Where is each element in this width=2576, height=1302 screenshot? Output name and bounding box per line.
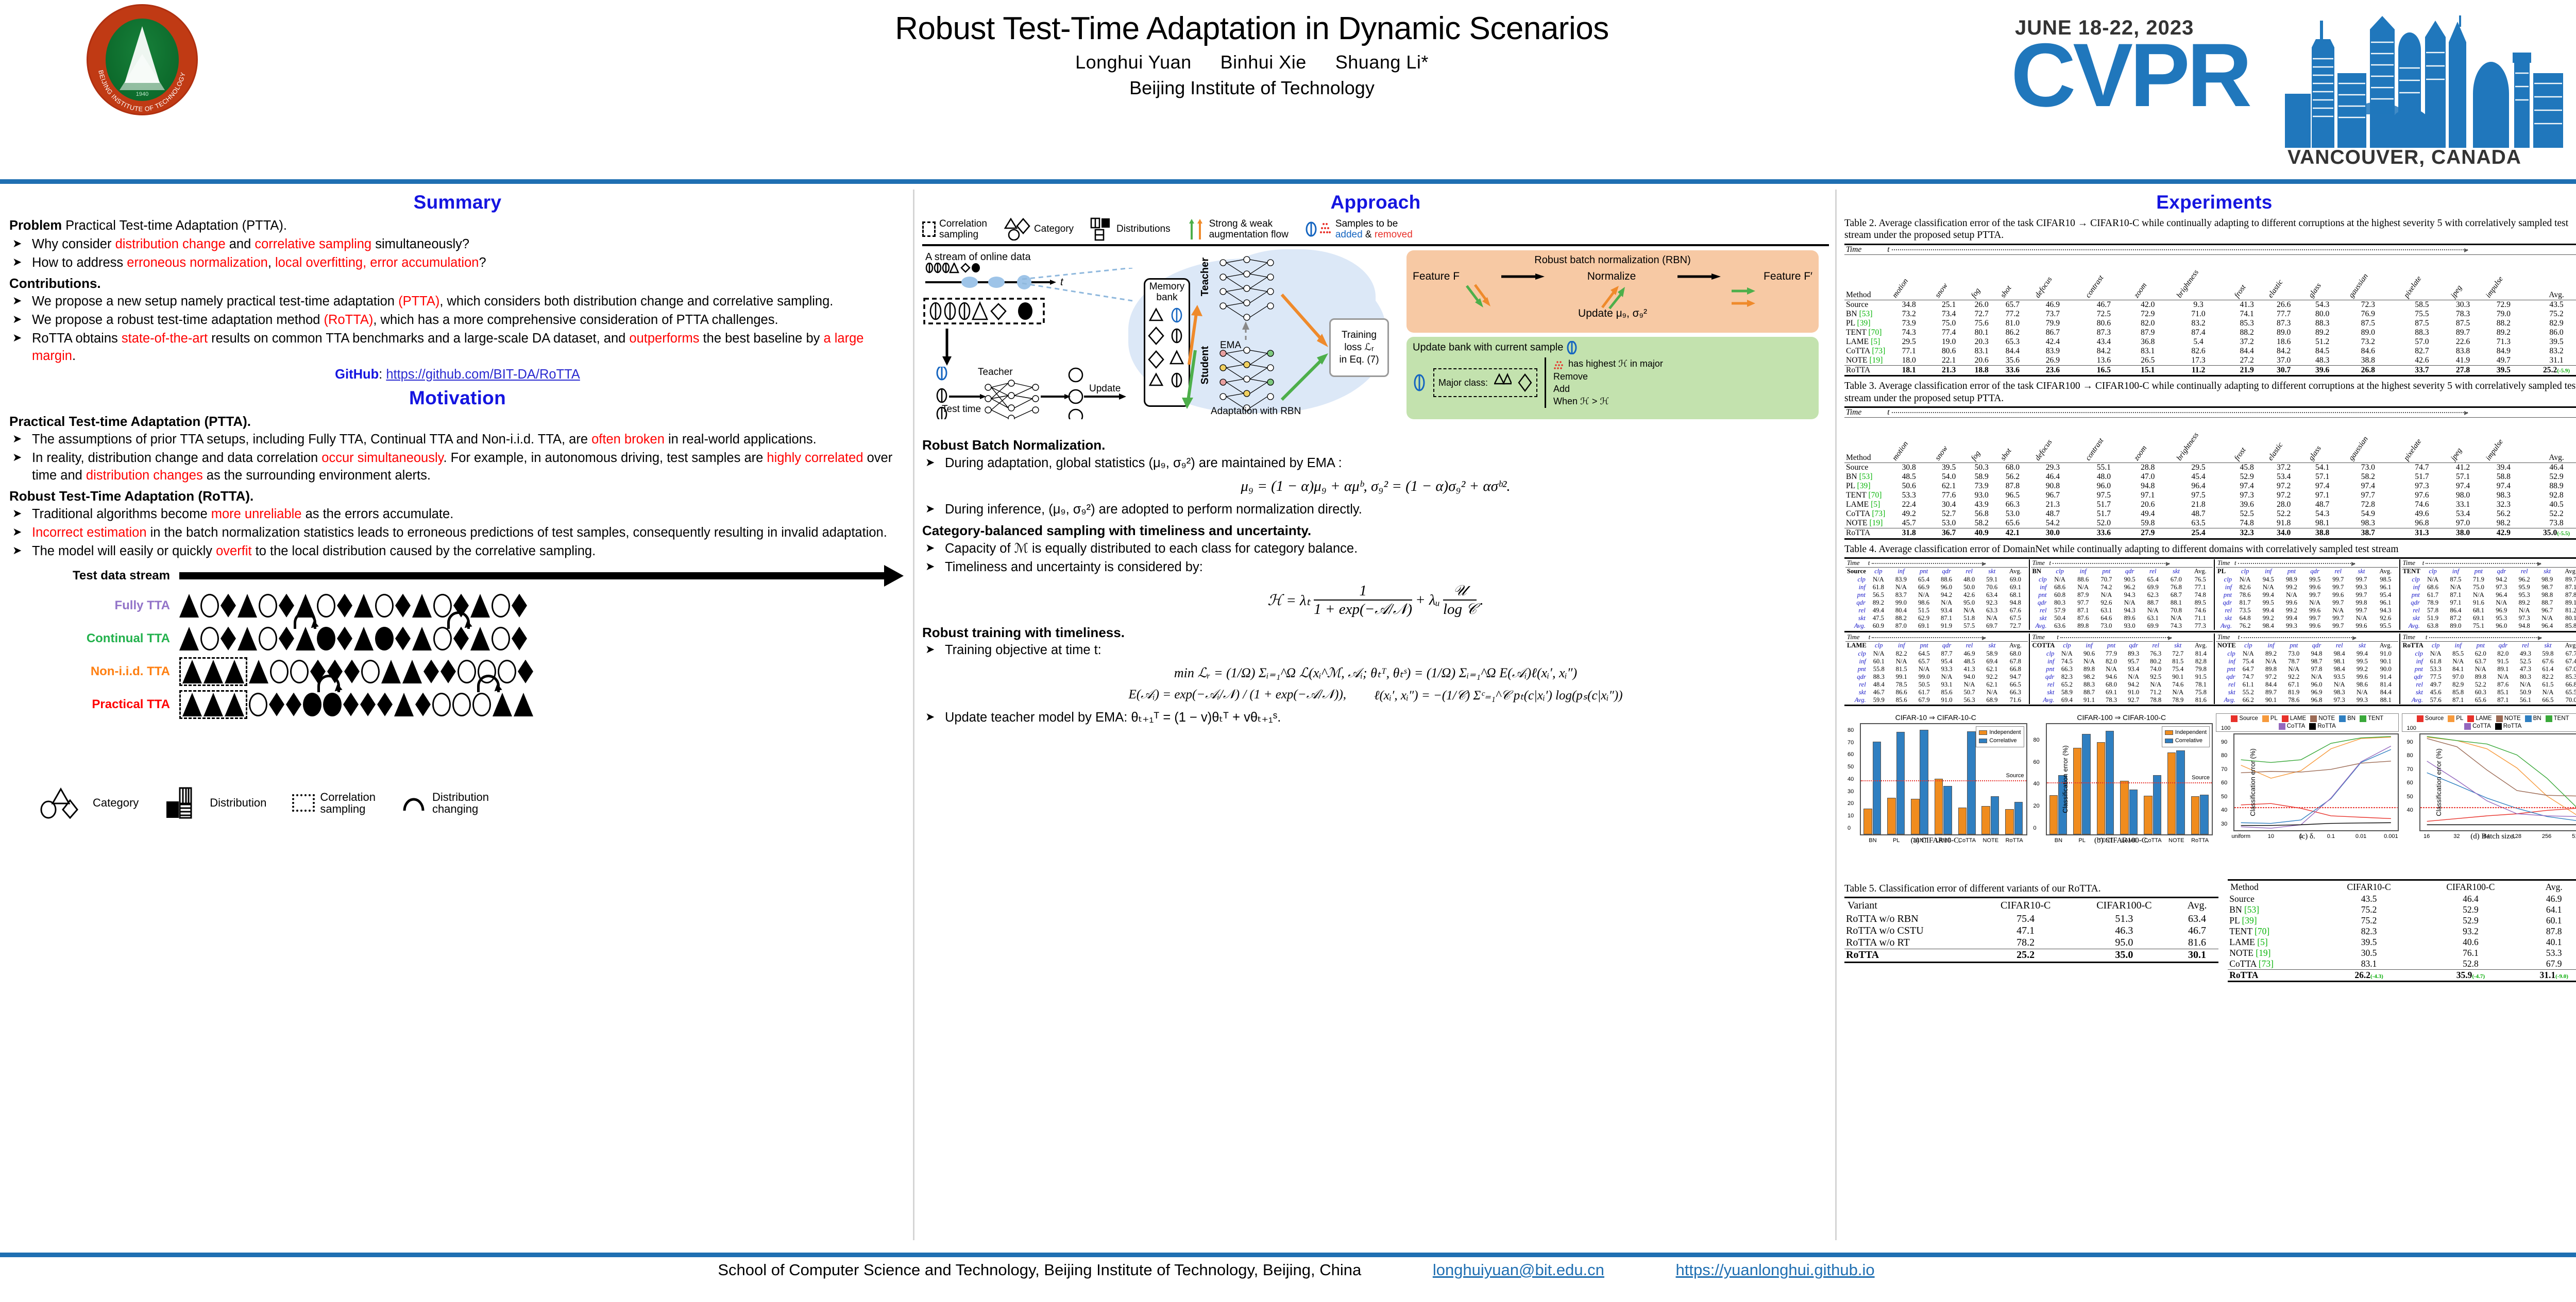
cell-avg: 91.4 [2374,673,2398,681]
teacher-label: Teacher [978,367,1013,378]
footer-email-link[interactable]: longhuiyuan@bit.edu.cn [1433,1261,1604,1279]
cell: 58.2 [2340,472,2396,482]
bar-Correlative-BN [1873,742,1881,834]
cell: 88.3 [2396,328,2447,337]
x-tick: 1 [2299,833,2302,840]
row-method: BN [53] [1844,472,1886,482]
cell: 99.8 [2350,599,2373,607]
cell: 76.1 [2417,948,2523,958]
green-remove: Remove [1553,370,1663,383]
augmentation-flow-icon [1187,218,1206,241]
cell-avg: 31.1(-9.0) [2523,969,2576,981]
rotta-point-2: Incorrect estimation in the batch normal… [9,524,906,542]
table-row: rel57.886.468.196.9N/A96.781.2 [2401,607,2576,614]
cell: N/A [2257,584,2280,591]
cell: 89.0 [2262,328,2305,337]
cell: 51.2 [2305,337,2340,347]
cell: 94.3 [2118,607,2141,614]
table-row: qdr89.299.098.6N/A95.092.394.8 [1845,599,2028,607]
y-tick: 70 [1848,740,1854,746]
series-NOTE [2427,739,2576,796]
cell: 80.3 [2048,599,2072,607]
cell: N/A [2490,599,2513,607]
table-row: CoTTA [73]83.152.867.9 [2228,958,2576,970]
cell: 87.1 [1935,614,1958,622]
x-tick: LAME [1936,837,1951,844]
cell: 30.3 [2447,300,2478,310]
cell: 94.2 [2123,681,2145,689]
cell: 39.5 [2479,365,2529,375]
source-reference-line [1861,780,2026,781]
cell: 63.6 [2048,622,2072,630]
rbn-feature-fp: Feature F′ [1764,270,1812,283]
cell: 29.5 [2165,463,2231,473]
cell: 83.9 [2028,347,2077,356]
table-row: skt64.899.299.499.799.7N/A92.6 [2216,614,2398,622]
cell: 99.6 [2303,607,2327,614]
cell-avg: 87.8 [2523,926,2576,937]
cell: 77.7 [2262,310,2305,319]
cell: 67.1 [2282,681,2305,689]
cell: 39.6 [2231,500,2262,509]
table6-wrap: MethodCIFAR10-CCIFAR100-CAvg.Source43.54… [2228,879,2576,983]
cell: 66.3 [2056,665,2078,673]
c1-r1: (PTTA) [398,294,439,309]
table-row: rel49.480.451.593.4N/A63.367.6 [1845,607,2028,614]
cell: N/A [2421,575,2444,584]
legend-entry: Source [2231,715,2258,722]
cell: 69.7 [1980,622,2003,630]
cell: 51.5 [1912,607,1935,614]
row-domain: clp [2401,649,2425,658]
stream-label-continual: Continual TTA [9,631,179,646]
table-row: RoTTA w/o CSTU47.146.346.7 [1844,925,2218,937]
y-tick: 80 [2221,752,2227,759]
cell: 97.3 [2513,614,2535,622]
cell-avg: 96.1 [2373,599,2398,607]
cell: 69.1 [1912,622,1935,630]
row-domain: Avg. [2031,622,2048,630]
cell: 53.0 [1997,509,2028,519]
table-header-row: COTTAclpinfpntqdrrelsktAvg. [2031,641,2213,649]
cell: 82.7 [2396,347,2447,356]
table-6: MethodCIFAR10-CCIFAR100-CAvg.Source43.54… [2228,879,2576,983]
cell: 69.1 [2100,689,2123,696]
cell: 75.0 [2467,584,2490,591]
cell: 91.5 [2492,658,2515,665]
section-title-experiments: Experiments [1844,192,2576,213]
cell-avg: 94.3 [2373,607,2398,614]
y-tick: 50 [2221,794,2227,800]
x-tick: 512 [2572,833,2576,840]
correlation-sampling-icon [292,794,315,812]
cell: 45.7 [1886,519,1931,528]
cb-plus: + λᵤ [1415,592,1440,609]
cell: 26.5 [2130,356,2166,366]
table-5: VariantCIFAR10-CCIFAR100-CAvg.RoTTA w/o … [1844,897,2218,963]
cell: 58.9 [2056,689,2078,696]
col-header: brightness [2165,418,2231,463]
table-row: NOTE [19]30.576.153.3 [2228,948,2576,958]
cell-avg: 81.4 [2374,681,2398,689]
table-row: TENT [70]82.393.287.8 [2228,926,2576,937]
domainnet-block: Timet LAMEclpinfpntqdrrelsktAvg.clpN/A82… [1844,633,2030,704]
row-method: RoTTA [1844,365,1886,375]
cell: 58.5 [2396,300,2447,310]
cell-avg: 67.6 [2003,607,2027,614]
cell: 27.9 [2130,528,2166,538]
col-header: clp [2237,641,2260,649]
cell-avg: 67.7 [2559,649,2576,658]
cell: 70.7 [2095,575,2118,584]
row-domain: qdr [2401,599,2421,607]
cell: N/A [2327,607,2350,614]
cell: 38.8 [2340,356,2396,366]
cell: 48.5 [1958,658,1981,665]
cell: 49.6 [2396,509,2447,519]
cell: 62.1 [1931,482,1966,491]
m1-b: in real-world applications. [665,432,817,447]
domainnet-block: Timet PLclpinfpntqdrrelsktAvg.clpN/A94.5… [2215,559,2400,630]
table3-caption: Table 3. Average classification error of… [1844,380,2576,404]
cell: 74.2 [2095,584,2118,591]
cell: 72.7 [2167,649,2189,658]
table-header-row: RoTTAclpinfpntqdrrelsktAvg. [2401,641,2576,649]
cell: 65.4 [1912,575,1935,584]
rp2-b: in the batch normalization statistics le… [147,525,887,540]
legend-distchange: Distribution changing [401,791,489,815]
table-row: inf60.1N/A65.795.448.569.467.8 [1845,658,2028,665]
x-tick: TENT [2098,837,2113,844]
table-row: qdr78.997.191.6N/A89.288.789.1 [2401,599,2576,607]
row-domain: Avg. [2401,622,2421,630]
cell-avg: 95.5 [2373,622,2398,630]
teacher-vertical-label: Teacher [1199,258,1211,296]
cell: 87.9 [2072,591,2095,599]
table-row: pnt53.384.1N/A89.147.361.467.0 [2401,665,2576,673]
table-row: rel49.782.952.287.6N/A61.566.8 [2401,681,2576,689]
cell: 18.1 [1886,365,1931,375]
col-header: skt [2164,567,2188,575]
cell: 72.9 [2479,300,2529,310]
row-domain: inf [2031,658,2056,665]
cell: 65.6 [1997,519,2028,528]
legend-entry: TENT [2546,715,2569,722]
cell: 30.0 [2028,528,2077,538]
cell: 71.9 [2467,575,2490,584]
cell: 62.0 [2469,649,2492,658]
bar-Independent-RoTTA [2005,809,2013,834]
cell: 74.5 [2056,658,2078,665]
cell: 36.7 [1931,528,1966,538]
cell: 41.3 [2231,300,2262,310]
col-header: snow [1931,254,1966,300]
cell: 97.1 [2444,599,2467,607]
y-tick: 0 [1848,825,1851,831]
memory-bank-line2: bank [1156,292,1177,303]
cell-avg: 95.4 [2373,591,2398,599]
cell: 52.7 [1931,509,1966,519]
cell: N/A [2167,689,2189,696]
cell: 69.9 [2141,622,2164,630]
col-header: rel [2513,567,2535,575]
table-header-row: Methodmotionsnowfogshotdefocuscontrastzo… [1844,418,2576,463]
poster-header: 1940 BEIJING INSTITUTE OF TECHNOLOGY Rob… [0,0,2576,195]
cell: 54.0 [1931,472,1966,482]
cell: 84.4 [2231,347,2262,356]
cell: 50.5 [1913,681,1936,689]
footer-homepage-link[interactable]: https://yuanlonghui.github.io [1676,1261,1875,1279]
cell: 67.9 [1913,696,1936,704]
cell: N/A [2305,673,2328,681]
cell: 46.7 [2077,300,2130,310]
series-CoTTA [2427,761,2576,817]
col-header: defocus [2028,254,2077,300]
col-header: rel [2327,567,2350,575]
cell: N/A [2514,681,2537,689]
cell: 94.0 [1958,673,1981,681]
c2-r1: (RoTTA) [324,313,374,327]
col-header: rel [1958,567,1980,575]
cell: 80.0 [2305,310,2340,319]
cell: 38.8 [2305,528,2340,538]
cell: N/A [2118,599,2141,607]
cell: 21.8 [2165,500,2231,509]
cell: 90.6 [2078,649,2100,658]
row-domain: pnt [2031,665,2056,673]
cell: 96.0 [2305,681,2328,689]
row-method: CoTTA [73] [1844,347,1886,356]
cell: 87.3 [2077,328,2130,337]
cell: 83.1 [1966,347,1997,356]
col-header: elastic [2262,418,2305,463]
y-tick: 10 [1848,813,1854,819]
bar-Independent-TENT [2097,742,2105,834]
cell: 97.3 [2396,482,2447,491]
cell: 75.6 [1966,319,1997,328]
cell: 86.6 [1890,689,1913,696]
block-name: BN [2031,567,2048,575]
cell: 88.7 [2141,599,2164,607]
cell-avg: 39.5 [2529,337,2576,347]
cell-avg: 82.9 [2529,319,2576,328]
c3-b: results on common TTA benchmarks and a l… [208,331,629,346]
table-row-final: RoTTA26.2(-4.3)35.9(-4.7)31.1(-9.0) [2228,969,2576,981]
cell: 75.5 [2396,310,2447,319]
cell: 54.1 [2305,463,2340,473]
cell: 97.2 [2262,482,2305,491]
table-row: skt45.685.860.385.150.9N/A65.5 [2401,689,2576,696]
cell: 91.0 [1936,696,1958,704]
cell: 99.7 [2303,591,2327,599]
cell: N/A [2282,665,2305,673]
update-label: Update [1089,383,1121,394]
cell: 78.5 [1890,681,1913,689]
row-method: TENT [70] [2228,926,2320,937]
col-header: clp [1867,567,1890,575]
x-tick: PL [1893,837,1900,844]
row-variant: RoTTA w/o RT [1844,937,1978,949]
table-row: Timet [2401,559,2576,568]
cell: 99.7 [2327,575,2350,584]
cell: 65.6 [2469,696,2492,704]
table2-caption: Table 2. Average classification error of… [1844,217,2576,242]
cell-avg: 70.0 [2559,696,2576,704]
cell: 73.9 [1886,319,1931,328]
cell: 90.1 [2167,673,2189,681]
contributions-label: Contributions. [9,275,906,292]
cell: 60.1 [1868,658,1890,665]
mlegend-2-l1: Distributions [1116,224,1171,235]
major-class-label: Major class: [1438,378,1488,388]
row-domain: Avg. [2216,622,2233,630]
cell: 99.7 [2350,591,2373,599]
plot-area: 30405060708090100uniform1010.10.010.001C… [2233,733,2399,831]
cell: 92.7 [2123,696,2145,704]
col-header: pnt [2469,641,2492,649]
domainnet-block: Timet SourceclpinfpntqdrrelsktAvg.clpN/A… [1844,559,2030,630]
col-header: zoom [2130,254,2166,300]
series-LAME [2427,808,2576,821]
cell: 95.9 [2513,584,2535,591]
cell: 98.1 [2305,519,2340,528]
section-title-summary: Summary [9,192,906,213]
cell: 48.7 [2165,509,2231,519]
cell: 64.6 [2095,614,2118,622]
domainnet-block: Timet TENTclpinfpntqdrrelsktAvg.clpN/A87… [2400,559,2576,630]
cell: 96.4 [2165,482,2231,491]
table-row: BN [53]48.554.058.956.246.448.047.045.45… [1844,472,2576,482]
cell: 87.1 [2444,591,2467,599]
cell: 89.2 [2305,328,2340,337]
cell: 99.5 [2303,575,2327,584]
cell: 53.3 [2425,665,2447,673]
cell: 30.5 [2320,948,2418,958]
cell: 84.2 [2262,347,2305,356]
source-reference-line [2047,782,2212,783]
block-name: COTTA [2031,641,2056,649]
table-row: rel48.478.550.593.1N/A62.166.5 [1845,681,2028,689]
github-link[interactable]: https://github.com/BIT-DA/RoTTA [386,367,580,382]
cell: 75.0 [1931,319,1966,328]
category-icon [40,787,88,819]
cell: N/A [1868,649,1890,658]
table-row: clpN/A82.264.587.746.958.968.0 [1845,649,2028,658]
summary-question-1: Why consider distribution change and cor… [9,236,906,253]
cell: 26.0 [1966,300,1997,310]
legend-distribution: Distribution [164,787,266,819]
cell: 98.7 [2536,584,2558,591]
col-header: qdr [2303,567,2327,575]
cell: 65.7 [1997,300,2028,310]
cell-avg: 92.6 [2373,614,2398,622]
cell: 48.7 [2028,509,2077,519]
cell: 78.6 [2233,591,2257,599]
block-name: NOTE [2216,641,2237,649]
cell: 53.4 [2447,509,2478,519]
legend-correlation-sampling: Correlationsampling [922,218,987,241]
cell: 98.9 [2536,575,2558,584]
cell: 97.3 [2328,696,2351,704]
cell: 46.9 [2028,300,2077,310]
col-header: Method [2228,880,2320,894]
legend-category: Category [40,787,139,819]
cell: 88.2 [2231,328,2262,337]
cell: 93.0 [2118,622,2141,630]
table-row: TENT [70]53.377.693.096.596.797.597.197.… [1844,491,2576,500]
cell: 91.6 [2467,599,2490,607]
cell: 95.3 [2490,614,2513,622]
cell: N/A [2467,591,2490,599]
cell: 87.4 [2165,328,2231,337]
cell-avg: 88.1 [2374,696,2398,704]
cell: 74.3 [2164,622,2188,630]
cell: 47.1 [1978,925,2073,937]
cell: 78.9 [2421,599,2444,607]
cell: 89.8 [2078,665,2100,673]
cb-heading: Category-balanced sampling with timeline… [922,522,1829,539]
table5-wrap: Table 5. Classification error of differe… [1844,879,2218,983]
cell: 26.6 [2262,300,2305,310]
cell: 63.3 [1980,607,2003,614]
domainnet-block: Timet BNclpinfpntqdrrelsktAvg.clpN/A88.6… [2030,559,2215,630]
row-domain: qdr [2031,599,2048,607]
cell-avg: 69.1 [2003,584,2027,591]
table-row: clpN/A87.571.994.296.298.989.7 [2401,575,2576,584]
x-tick: 16 [2424,833,2430,840]
cell: 84.5 [2305,347,2340,356]
series-NOTE [2241,761,2391,773]
cell: 74.7 [2396,463,2447,473]
update-bank-panel: Update bank with current sample Major cl… [1406,337,1819,419]
cell: 94.8 [2513,622,2535,630]
y-axis-label: Classification error (%) [2249,748,2257,816]
cell-avg: 83.2 [2529,347,2576,356]
col-header: qdr [2123,641,2145,649]
avg-header: Avg. [2558,567,2576,575]
table-row: PL [39]75.252.960.1 [2228,915,2576,926]
cell-avg: 67.8 [2003,658,2027,665]
cell: N/A [2100,665,2123,673]
rt-equation-2a: E(𝒜ᵢ) = exp(−𝒜ᵢ/𝒩) / (1 + exp(−𝒜/𝒩)), [1128,688,1346,703]
avg-header: Avg. [2188,567,2213,575]
series-CoTTA [2241,746,2391,828]
col-header: glass [2305,254,2340,300]
cell: 9.3 [2165,300,2231,310]
cell: 79.9 [2028,319,2077,328]
col-header: pnt [2282,641,2305,649]
col-header: skt [2536,567,2558,575]
cell: 96.4 [2536,622,2558,630]
row-method: BN [53] [2228,904,2320,915]
cell: 78.6 [2282,696,2305,704]
cell: 58.9 [1966,472,1997,482]
cell: 50.6 [1886,482,1931,491]
cell: 34.8 [1886,300,1931,310]
cell: 63.8 [2421,622,2444,630]
cell: 75.2 [2320,915,2418,926]
cell: 80.6 [2077,319,2130,328]
cvpr-logo: JUNE 18-22, 2023 CVPR [2007,11,2568,176]
col-header: qdr [2492,641,2515,649]
legend-entry: PL [2262,715,2278,722]
y-axis-label: Classification error (%) [2061,745,2069,813]
legend-entry: BN [2339,715,2355,722]
cell: 52.9 [2417,915,2523,926]
cell: 28.8 [2130,463,2166,473]
cell: 88.1 [2164,599,2188,607]
chart-3: SourcePLLAMENOTEBNTENTCoTTARoTTA30405060… [2216,713,2399,868]
